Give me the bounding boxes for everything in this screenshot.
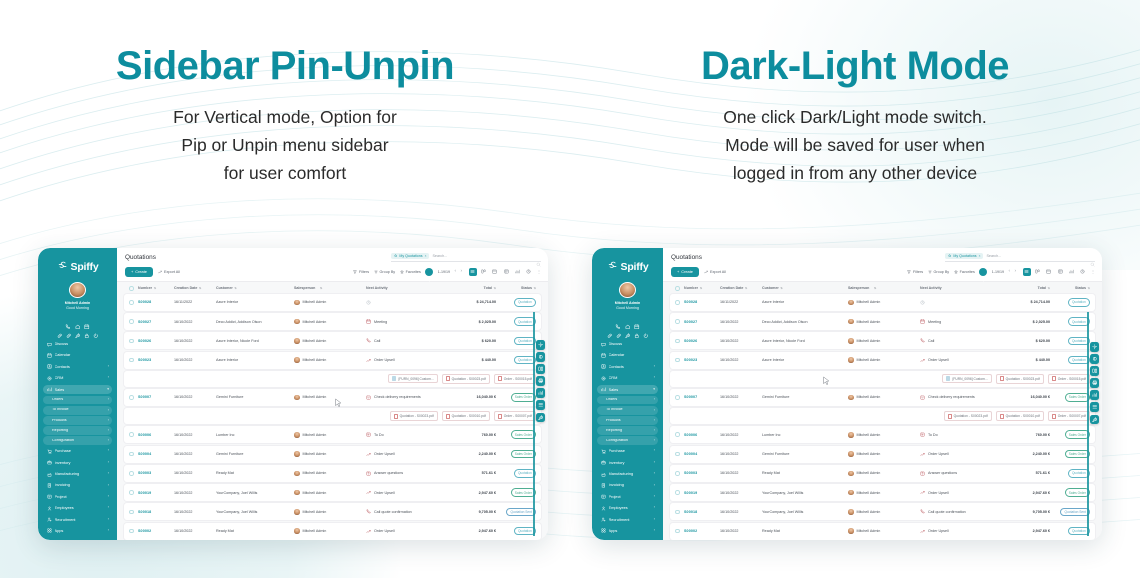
row-checkbox[interactable] [129,432,138,437]
sidebar-item-products[interactable]: Products› [43,416,112,424]
pagination-prev-button[interactable]: ‹ [455,269,457,274]
chevron-right-icon[interactable]: › [108,472,109,476]
chevron-right-icon[interactable]: › [108,365,109,369]
project-icon [47,494,52,499]
chevron-right-icon[interactable]: › [108,439,109,443]
call-icon[interactable] [615,316,621,322]
calendar-icon[interactable] [634,316,640,322]
chevron-right-icon[interactable]: › [654,472,655,476]
attachment-chip[interactable]: Quotation - S00010.pdf [442,411,490,421]
cell-number[interactable]: S00026 [138,339,174,343]
table-row[interactable]: S0002816/11/2022Azure InteriorMitchell A… [670,294,1095,311]
status-badge: Quotation [1050,527,1090,536]
search-facet-my-quotations[interactable]: My Quotations× [391,253,429,259]
cell-number[interactable]: S00027 [138,320,174,324]
cell-total: $ 24,714.00 [1002,300,1050,304]
link-icon[interactable] [57,326,63,332]
chevron-right-icon[interactable]: › [654,429,655,433]
cell-total: 9,705.00 € [448,510,496,514]
link-alt-icon[interactable] [616,326,622,332]
chart-rail-icon[interactable] [1090,390,1100,400]
row-checkbox[interactable] [129,358,138,363]
avatar [848,357,854,363]
table-row[interactable]: S0000316/10/2022Ready MatMitchell AdminA… [124,465,541,482]
table-row[interactable]: S0001816/10/2022YourCompany, Joel Willis… [670,503,1095,520]
pdf-icon [498,376,502,381]
attachment-chip[interactable]: Order - S00015.pdf [1048,374,1090,384]
column-header-number[interactable]: Number⇅ [138,286,174,290]
print-rail-icon[interactable] [1090,378,1100,388]
sidebar-item-contacts[interactable]: Contacts› [597,362,658,372]
chevron-right-icon[interactable]: › [654,419,655,423]
row-checkbox[interactable] [675,529,684,534]
pagination-next-button[interactable]: › [1015,269,1017,274]
select-all-checkbox[interactable] [675,286,684,291]
row-checkbox[interactable] [675,339,684,344]
settings-rail-icon[interactable] [536,340,546,350]
call-icon [366,509,371,514]
sidebar-item-calendar[interactable]: Calendar [597,350,658,360]
cell-salesperson: Mitchell Admin [848,509,920,515]
table-row[interactable]: S0001916/10/2022YourCompany, Joel Willis… [670,484,1095,501]
chevron-right-icon[interactable]: › [108,398,109,402]
upsell-icon [920,358,925,363]
cell-creation-date: 16/10/2022 [720,395,762,399]
cell-total: 571.61 € [448,471,496,475]
cell-number[interactable]: S00003 [684,471,720,475]
table-row[interactable]: S0000716/10/2022Gemini FurnitureMitchell… [124,389,541,406]
attachment-chip[interactable]: Order - S00007.pdf [1048,411,1090,421]
filters-button[interactable]: Filters [353,270,369,274]
cell-next-activity: Answer questions [366,471,448,476]
sidebar-item-recruitment[interactable]: Recruitment› [597,515,658,525]
search-input[interactable]: Search... [986,254,1001,258]
link-alt-icon[interactable] [66,326,72,332]
row-checkbox[interactable] [675,471,684,476]
chevron-right-icon[interactable]: › [654,439,655,443]
sidebar-item-purchase[interactable]: Purchase› [597,446,658,456]
refresh-button[interactable] [979,268,987,276]
activity-label: Order Upsell [928,452,949,456]
sales-icon [47,387,52,392]
sidebar-item-label: Apps [609,529,651,533]
favorites-button[interactable]: Favorites [400,270,421,274]
upsell-icon [366,529,371,534]
cell-customer: Gemini Furniture [762,452,848,456]
list-view-icon[interactable] [469,268,477,276]
pin-rail-icon[interactable] [536,413,546,423]
chevron-right-icon[interactable]: › [108,429,109,433]
table-row[interactable]: S0000616/10/2022Lumber IncMitchell Admin… [124,426,541,443]
cell-number[interactable]: S00028 [684,300,720,304]
cell-next-activity: Meeting [366,319,448,324]
close-icon[interactable]: × [979,254,981,258]
cell-number[interactable]: S00007 [684,395,720,399]
column-header-salesperson[interactable]: Salesperson⇅ [294,286,366,290]
sidebar-item-employees[interactable]: Employees› [43,503,112,513]
row-checkbox[interactable] [675,300,684,305]
gear-icon [981,269,986,274]
sidebar-item-reporting[interactable]: Reporting› [43,426,112,434]
calendar-icon[interactable] [84,316,90,322]
column-header-creation-date[interactable]: Creation Date⇅ [720,286,762,290]
chevron-down-icon[interactable]: ▾ [107,388,109,392]
sidebar-item-reporting[interactable]: Reporting› [597,426,658,434]
calendar-view-icon[interactable] [491,268,499,276]
chevron-right-icon[interactable]: › [108,529,109,533]
search-bar[interactable]: My Quotations×Search... [391,253,541,262]
filters-button[interactable]: Filters [907,270,923,274]
chevron-right-icon[interactable]: › [108,518,109,522]
chevron-right-icon[interactable]: › [654,529,655,533]
pdf-icon [498,414,502,419]
row-checkbox[interactable] [129,529,138,534]
export-all-button[interactable]: Export All [704,270,726,274]
chevron-right-icon[interactable]: › [654,518,655,522]
avatar [294,490,300,496]
sidebar-item-products[interactable]: Products› [597,416,658,424]
activity-view-icon[interactable] [525,268,533,276]
chevron-right-icon[interactable]: › [654,484,655,488]
cell-number[interactable]: S00028 [138,300,174,304]
list-view-icon[interactable] [1023,268,1031,276]
chevron-right-icon[interactable]: › [654,376,655,380]
column-header-customer[interactable]: Customer⇅ [762,286,848,290]
table-row[interactable]: S0001816/10/2022YourCompany, Joel Willis… [124,503,541,520]
avatar [848,528,854,534]
kanban-view-icon[interactable] [480,268,488,276]
sidebar-item-manufacturing[interactable]: Manufacturing› [597,469,658,479]
chevron-right-icon[interactable]: › [654,365,655,369]
sidebar-item-discuss[interactable]: Discuss [597,339,658,349]
list-rail-icon[interactable] [536,400,546,410]
attachment-chip[interactable]: Quotation - S00023.pdf [996,374,1044,384]
cell-number[interactable]: S00007 [138,395,174,399]
call-icon[interactable] [65,316,71,322]
column-header-total[interactable]: Total⇅ [1002,286,1050,290]
column-header-creation-date[interactable]: Creation Date⇅ [174,286,216,290]
sidebar-item-configuration[interactable]: Configuration› [597,436,658,444]
cell-number[interactable]: S00019 [138,491,174,495]
pagination-prev-button[interactable]: ‹ [1009,269,1011,274]
table-row[interactable]: S0002616/10/2022Azure Interior, Nicole F… [124,332,541,349]
cell-salesperson: Mitchell Admin [848,300,920,306]
sidebar-item-invoicing[interactable]: Invoicing› [43,481,112,491]
attachment-chip[interactable]: Order - S00007.pdf [494,411,536,421]
chevron-right-icon[interactable]: › [654,398,655,402]
chevron-right-icon[interactable]: › [654,449,655,453]
cell-salesperson: Mitchell Admin [294,490,366,496]
close-icon[interactable]: × [425,254,427,258]
row-checkbox[interactable] [129,339,138,344]
pin-icon[interactable] [625,326,631,332]
table-row[interactable]: S0002716/10/2022Deco Addict, Addison Ols… [670,313,1095,330]
row-checkbox[interactable] [675,319,684,324]
chevron-right-icon[interactable]: › [108,419,109,423]
more-options-icon[interactable]: ⋮ [537,270,541,274]
cell-total: $ 620.00 [448,339,496,343]
table-row[interactable]: S0000716/10/2022Gemini FurnitureMitchell… [670,389,1095,406]
sidebar-item-label: Contacts [609,365,651,369]
link-icon[interactable] [607,326,613,332]
column-header-salesperson[interactable]: Salesperson⇅ [848,286,920,290]
floating-action-rail[interactable] [1090,342,1100,424]
attachment-chip[interactable]: [FURN_0096] Custom... [942,374,992,383]
sidebar-item-crm[interactable]: CRM› [43,373,112,383]
sidebar-item-label: Project [55,495,105,499]
table-row[interactable]: S0002816/11/2022Azure InteriorMitchell A… [124,294,541,311]
row-checkbox[interactable] [129,319,138,324]
pagination-next-button[interactable]: › [461,269,463,274]
chevron-right-icon[interactable]: › [108,461,109,465]
row-checkbox[interactable] [129,510,138,515]
table-row[interactable]: S0002316/10/2022Azure InteriorMitchell A… [124,352,541,369]
table-row[interactable]: S0002316/10/2022Azure InteriorMitchell A… [670,352,1095,369]
avatar[interactable] [619,282,636,298]
row-checkbox[interactable] [129,300,138,305]
sidebar-item-contacts[interactable]: Contacts› [43,362,112,372]
cell-next-activity: Order Upsell [920,529,1002,534]
row-checkbox[interactable] [675,395,684,400]
chevron-down-icon[interactable]: ▾ [653,388,655,392]
row-checkbox[interactable] [129,395,138,400]
upsell-icon [366,452,371,457]
row-checkbox[interactable] [675,490,684,495]
kanban-view-icon[interactable] [1034,268,1042,276]
cell-salesperson: Mitchell Admin [294,451,366,457]
row-checkbox[interactable] [675,358,684,363]
table-row[interactable]: S0000416/10/2022Gemini FurnitureMitchell… [670,446,1095,463]
column-header-total[interactable]: Total⇅ [448,286,496,290]
quick-actions-row-1[interactable] [43,316,112,322]
quick-actions-row-2[interactable] [597,326,658,332]
chevron-right-icon[interactable]: › [108,409,109,413]
graph-view-icon[interactable] [513,268,521,276]
attachment-chip[interactable]: Order - S00015.pdf [494,374,536,384]
avatar[interactable] [69,282,86,298]
settings-rail-icon[interactable] [1090,342,1100,352]
cell-customer: Ready Mat [762,471,848,475]
pivot-view-icon[interactable] [502,268,510,276]
cell-next-activity: Call quote confirmation [366,509,448,514]
sidebar-item-sales[interactable]: Sales▾ [597,385,658,395]
cell-customer: Gemini Furniture [216,452,294,456]
attachment-chip[interactable]: Quotation - S00010.pdf [996,411,1044,421]
brand-name: Spiffy [71,261,99,273]
refresh-button[interactable] [425,268,433,276]
quick-actions-row-1[interactable] [597,316,658,322]
favorites-button[interactable]: Favorites [954,270,975,274]
list-rail-icon[interactable] [1090,402,1100,412]
search-bar[interactable]: My Quotations×Search... [945,253,1095,262]
cell-number[interactable]: S00006 [684,433,720,437]
upsell-icon [366,490,371,495]
chevron-right-icon[interactable]: › [654,461,655,465]
sidebar-item-crm[interactable]: CRM› [597,373,658,383]
cell-number[interactable]: S00026 [684,339,720,343]
cell-number[interactable]: S00002 [138,529,174,533]
search-facet-my-quotations[interactable]: My Quotations× [945,253,983,259]
chevron-right-icon[interactable]: › [108,484,109,488]
sidebar-item-label: Manufacturing [609,472,651,476]
sidebar-item-discuss[interactable]: Discuss [43,339,112,349]
home-icon[interactable] [75,316,81,322]
cell-number[interactable]: S00023 [684,358,720,362]
chevron-right-icon[interactable]: › [108,495,109,499]
cell-number[interactable]: S00019 [684,491,720,495]
chevron-right-icon[interactable]: › [108,506,109,510]
apps-icon [47,528,52,533]
layout-rail-icon[interactable] [1090,366,1100,376]
attachment-chip[interactable]: Quotation - S00023.pdf [442,374,490,384]
theme-rail-icon[interactable] [536,352,546,362]
row-checkbox[interactable] [675,432,684,437]
column-header-status[interactable]: Status⇅ [1050,286,1090,290]
sidebar-item-label: Recruitment [55,518,105,522]
power-icon[interactable] [643,326,649,332]
lock-icon[interactable] [84,326,90,332]
sidebar-item-configuration[interactable]: Configuration› [43,436,112,444]
chevron-right-icon[interactable]: › [654,506,655,510]
attachment-chip[interactable]: Quotation - S00023.pdf [390,411,438,421]
table-row[interactable]: S0001916/10/2022YourCompany, Joel Willis… [124,484,541,501]
table-row[interactable]: S0000316/10/2022Ready MatMitchell AdminA… [670,465,1095,482]
table-row[interactable]: S0000216/10/2022Ready MatMitchell AdminO… [124,523,541,540]
power-icon[interactable] [93,326,99,332]
cell-next-activity [366,300,448,305]
cell-number[interactable]: S00027 [684,320,720,324]
attachment-chip[interactable]: Quotation - S00023.pdf [944,411,992,421]
group-by-button[interactable]: Group By [928,270,950,274]
cell-creation-date: 16/10/2022 [720,452,762,456]
sidebar-item-apps[interactable]: Apps› [43,526,112,536]
cell-number[interactable]: S00004 [138,452,174,456]
create-button[interactable]: +Create [671,267,699,277]
column-header-next-activity[interactable]: Next Activity [920,286,1002,290]
row-checkbox[interactable] [129,452,138,457]
search-icon[interactable] [536,254,541,259]
chevron-right-icon[interactable]: › [108,449,109,453]
column-header-number[interactable]: Number⇅ [684,286,720,290]
cell-number[interactable]: S00023 [138,358,174,362]
cell-customer: YourCompany, Joel Willis [762,491,848,495]
sidebar-item-employees[interactable]: Employees› [597,503,658,513]
plus-icon: + [131,269,133,274]
activity-view-icon[interactable] [1079,268,1087,276]
chart-rail-icon[interactable] [536,388,546,398]
cell-creation-date: 16/10/2022 [720,491,762,495]
sidebar-item-to-invoice[interactable]: To Invoice› [43,406,112,414]
chevron-right-icon[interactable]: › [654,495,655,499]
select-all-checkbox[interactable] [129,286,138,291]
cell-number[interactable]: S00018 [138,510,174,514]
sidebar-item-recruitment[interactable]: Recruitment› [43,515,112,525]
export-all-button[interactable]: Export All [158,270,180,274]
search-input[interactable]: Search... [432,254,447,258]
cell-number[interactable]: S00006 [138,433,174,437]
table-row[interactable]: S0002716/10/2022Deco Addict, Addison Ols… [124,313,541,330]
group-by-button[interactable]: Group By [374,270,396,274]
cell-next-activity: Answer questions [920,471,1002,476]
column-header-next-activity[interactable]: Next Activity [366,286,448,290]
cell-next-activity: Call quote confirmation [920,509,1002,514]
question-icon [920,471,925,476]
lock-icon[interactable] [634,326,640,332]
chevron-right-icon[interactable]: › [654,409,655,413]
sidebar-item-invoicing[interactable]: Invoicing› [597,481,658,491]
print-rail-icon[interactable] [536,376,546,386]
column-header-customer[interactable]: Customer⇅ [216,286,294,290]
status-badge: Quotation [1050,317,1090,326]
floating-action-rail[interactable] [536,340,546,422]
sidebar-item-apps[interactable]: Apps› [597,526,658,536]
pivot-view-icon[interactable] [1056,268,1064,276]
app-sidebar[interactable]: SpiffyMitchell AdminGood MorningDiscussC… [38,248,117,540]
sidebar-item-orders[interactable]: Orders› [597,396,658,404]
cell-number[interactable]: S00018 [684,510,720,514]
sidebar-item-label: Calendar [609,353,656,357]
sidebar-item-project[interactable]: Project› [43,492,112,502]
sidebar-item-sales[interactable]: Sales▾ [43,385,112,395]
calendar-view-icon[interactable] [1045,268,1053,276]
cell-number[interactable]: S00004 [684,452,720,456]
table-row[interactable]: S0002616/10/2022Azure Interior, Nicole F… [670,332,1095,349]
search-icon[interactable] [1090,254,1095,259]
row-checkbox[interactable] [675,510,684,515]
more-options-icon[interactable]: ⋮ [1091,270,1095,274]
create-button[interactable]: +Create [125,267,153,277]
spiffy-swirl-icon [607,258,618,276]
row-checkbox[interactable] [129,471,138,476]
table-row[interactable]: S0000616/10/2022Lumber IncMitchell Admin… [670,426,1095,443]
column-header-status[interactable]: Status⇅ [496,286,536,290]
sidebar-menu[interactable]: DiscussCalendarContacts›CRM›Sales▾Orders… [43,339,112,536]
theme-rail-icon[interactable] [1090,354,1100,364]
gear-icon [427,269,432,274]
pin-rail-icon[interactable] [1090,415,1100,425]
sidebar-item-manufacturing[interactable]: Manufacturing› [43,469,112,479]
home-icon[interactable] [625,316,631,322]
graph-view-icon[interactable] [1067,268,1075,276]
attachment-chip[interactable]: [FURN_0096] Custom... [388,374,438,383]
row-checkbox[interactable] [129,490,138,495]
cell-salesperson: Mitchell Admin [294,357,366,363]
chevron-right-icon[interactable]: › [108,376,109,380]
app-sidebar[interactable]: SpiffyMitchell AdminGood MorningDiscussC… [592,248,663,540]
sidebar-item-calendar[interactable]: Calendar [43,350,112,360]
row-checkbox[interactable] [675,452,684,457]
table-row[interactable]: S0000416/10/2022Gemini FurnitureMitchell… [124,446,541,463]
cell-number[interactable]: S00002 [684,529,720,533]
quick-actions-row-2[interactable] [43,326,112,332]
sidebar-item-to-invoice[interactable]: To Invoice› [597,406,658,414]
activity-label: Order Upsell [928,358,949,362]
sidebar-item-inventory[interactable]: Inventory› [43,458,112,468]
cell-number[interactable]: S00003 [138,471,174,475]
layout-rail-icon[interactable] [536,364,546,374]
sidebar-item-orders[interactable]: Orders› [43,396,112,404]
sidebar-item-inventory[interactable]: Inventory› [597,458,658,468]
sidebar-menu[interactable]: DiscussCalendarContacts›CRM›Sales▾Orders… [597,339,658,536]
brand-logo[interactable]: Spiffy [597,258,658,276]
table-row[interactable]: S0000216/10/2022Ready MatMitchell AdminO… [670,523,1095,540]
cell-salesperson: Mitchell Admin [848,432,920,438]
sidebar-item-project[interactable]: Project› [597,492,658,502]
brand-logo[interactable]: Spiffy [43,258,112,276]
cell-customer: Lumber Inc [216,433,294,437]
sidebar-item-purchase[interactable]: Purchase› [43,446,112,456]
pin-icon[interactable] [75,326,81,332]
